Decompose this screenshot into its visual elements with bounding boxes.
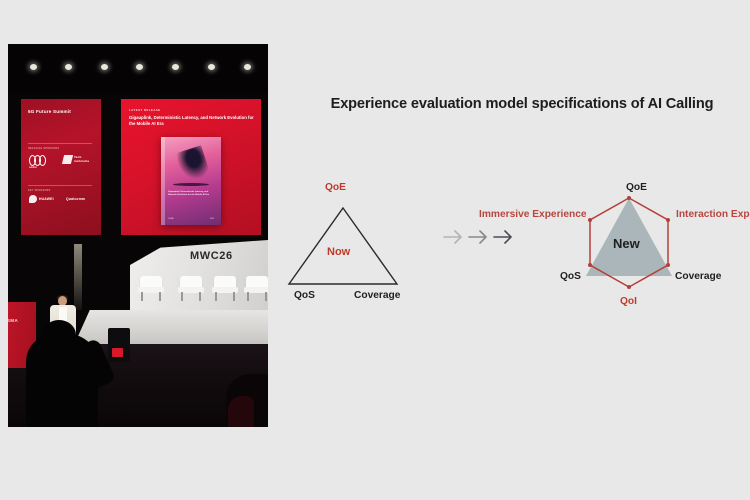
hexagon-vertex-label-qoi: QoI: [620, 296, 637, 307]
stage-chair: [244, 276, 268, 300]
qualcomm-logo-label: Qualcomm: [66, 197, 85, 201]
latest-release-kicker: LATEST RELEASE: [129, 108, 161, 112]
book-footer-left: GSMA: [168, 218, 174, 220]
ceiling-light-icon: [172, 64, 179, 70]
book-spine: [161, 137, 165, 225]
arrow-right-icon: [467, 228, 491, 246]
evaluation-model-diagram: QoE Now QoS Coverage QoE: [282, 176, 744, 326]
triangle-vertex-label-coverage: Coverage: [354, 290, 400, 301]
tech-mahindra-logo-icon: [62, 155, 73, 164]
stage-screen-left: 5G Future Summit HEADLINE SPONSORS nokia…: [21, 99, 101, 235]
ceiling-light-icon: [30, 64, 37, 70]
camera-operator-silhouette: [26, 334, 98, 427]
audience-silhouette: [228, 396, 254, 427]
hexagon-vertex-label-qos: QoS: [560, 271, 581, 282]
summit-title: 5G Future Summit: [28, 109, 71, 114]
ceiling-light-icon: [208, 64, 215, 70]
cover-artwork: [172, 145, 211, 187]
ceiling-light-icon: [101, 64, 108, 70]
immersive-experience-text: Immersive Experience: [479, 209, 587, 220]
gsma-podium-logo: GSMA: [8, 318, 18, 323]
huawei-logo-icon: [29, 195, 37, 203]
triangle-vertex-label-qoe: QoE: [325, 182, 346, 193]
huawei-logo-label: HUAWEI: [39, 197, 54, 201]
nokia-logo-label: nokia: [29, 166, 37, 169]
ceiling-light-icon: [244, 64, 251, 70]
divider: [28, 143, 92, 144]
arrow-right-icon: [442, 228, 466, 246]
transition-arrows: [442, 224, 522, 250]
book-caption: Gigauplink, Deterministic Latency, and N…: [168, 191, 214, 198]
headline-sponsors-caption: HEADLINE SPONSORS: [28, 147, 59, 150]
mwc26-wall-logo: MWC26: [190, 250, 233, 262]
book-footer-right: 2026: [210, 218, 214, 220]
arrow-right-icon: [492, 228, 516, 246]
page-title: Experience evaluation model specificatio…: [302, 96, 742, 112]
divider: [28, 185, 92, 186]
ceiling-light-icon: [65, 64, 72, 70]
triangle-vertex-label-qos: QoS: [294, 290, 315, 301]
tech-mahindra-logo-label: Techmahindra: [74, 156, 89, 164]
stage-screen-right: LATEST RELEASE Gigauplink, Deterministic…: [121, 99, 261, 235]
interaction-experience-text: Interaction Experience: [676, 209, 750, 220]
slide-canvas: 5G Future Summit HEADLINE SPONSORS nokia…: [0, 0, 750, 500]
triangle-center-label: Now: [327, 246, 350, 258]
stage-chair: [138, 276, 164, 300]
cover-arc: [173, 183, 209, 186]
nokia-logo-icon: [29, 155, 45, 164]
ceiling-light-icon: [136, 64, 143, 70]
key-sponsors-caption: KEY SPONSORS: [28, 189, 51, 192]
stage-chair: [212, 276, 238, 300]
triangle-shape: [282, 202, 432, 302]
hexagon-vertex-label-immersive-experience: Immersive Experience: [479, 208, 584, 222]
hexagon-vertex-label-coverage: Coverage: [675, 271, 721, 282]
stage-chair: [178, 276, 204, 300]
after-model-hexagon: QoE New Immersive Experience Interaction…: [534, 172, 744, 322]
release-headline: Gigauplink, Deterministic Latency, and N…: [129, 115, 255, 127]
book-footer: GSMA 2026: [168, 218, 214, 220]
before-model-triangle: QoE Now QoS Coverage: [282, 176, 432, 316]
report-cover-image: Gigauplink, Deterministic Latency, and N…: [161, 137, 221, 225]
conference-photo: 5G Future Summit HEADLINE SPONSORS nokia…: [8, 44, 268, 427]
hexagon-vertex-label-interaction-experience: Interaction Experience: [676, 208, 750, 222]
hexagon-center-label: New: [613, 236, 640, 251]
